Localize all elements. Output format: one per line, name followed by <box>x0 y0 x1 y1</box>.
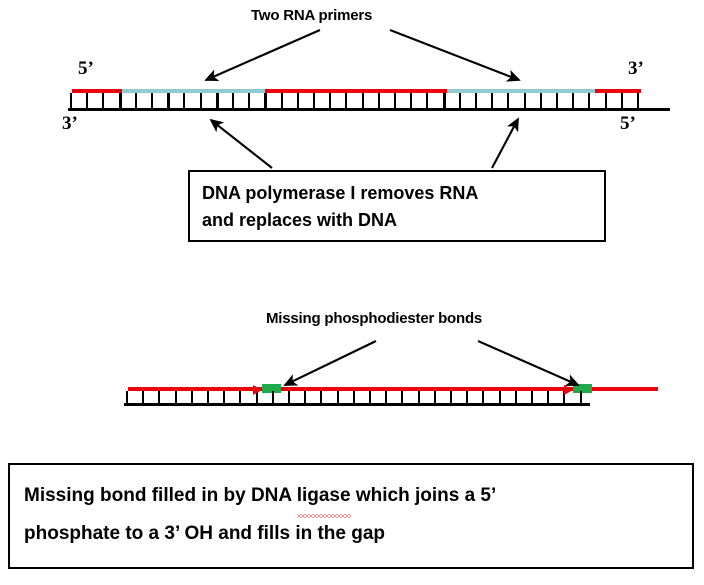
strand1-label-3prime-top: 3’ <box>628 58 644 80</box>
base-tick <box>410 93 412 109</box>
base-tick <box>200 93 202 109</box>
base-tick <box>482 391 484 404</box>
dna-polymerase-callout-box: DNA polymerase I removes RNA and replace… <box>188 170 606 242</box>
arrow-polymerase-to-left <box>211 120 272 168</box>
base-tick <box>385 391 387 404</box>
junction-tick <box>443 93 446 109</box>
base-tick <box>151 93 153 109</box>
polymerase-callout-line-1: DNA polymerase I removes RNA <box>202 180 594 207</box>
ligase-line1-after: which joins a 5’ <box>351 485 497 506</box>
base-tick <box>450 391 452 404</box>
missing-bond-marker <box>573 384 592 393</box>
base-tick <box>320 391 322 404</box>
base-tick <box>426 93 428 109</box>
base-tick <box>232 93 234 109</box>
dna-segment <box>72 89 122 93</box>
junction-tick <box>119 93 122 109</box>
base-tick <box>499 391 501 404</box>
base-tick <box>572 93 574 109</box>
junction-tick <box>167 93 170 109</box>
strand1-label-5prime-bottom: 5’ <box>620 113 636 135</box>
ligase-line1-before: Missing bond filled in by DNA <box>24 485 297 506</box>
rna-primer-segment <box>122 89 265 93</box>
base-tick <box>281 93 283 109</box>
base-tick <box>531 391 533 404</box>
dna-segment <box>128 387 262 391</box>
nick-arrow-icon <box>253 385 262 395</box>
base-tick <box>491 93 493 109</box>
base-tick <box>540 93 542 109</box>
base-tick <box>515 391 517 404</box>
strand1-label-5prime-top: 5’ <box>78 58 94 80</box>
base-tick <box>605 93 607 109</box>
base-tick <box>239 391 241 404</box>
dna-segment <box>265 89 447 93</box>
ligase-misspelled-word: ligase <box>297 477 351 515</box>
base-tick <box>369 391 371 404</box>
base-tick <box>466 391 468 404</box>
dna-segment <box>595 89 641 93</box>
base-tick <box>547 391 549 404</box>
base-tick <box>378 93 380 109</box>
base-tick <box>362 93 364 109</box>
base-tick <box>102 93 104 109</box>
base-tick <box>86 93 88 109</box>
dna-strand-top <box>0 88 704 110</box>
arrow-primers-to-left <box>206 30 320 80</box>
base-tick <box>434 391 436 404</box>
base-tick <box>304 391 306 404</box>
base-tick <box>313 93 315 109</box>
strand-bottom-baseline <box>124 403 590 406</box>
base-tick <box>142 391 144 404</box>
base-tick <box>418 391 420 404</box>
base-tick <box>70 93 72 109</box>
base-tick <box>337 391 339 404</box>
base-tick <box>297 93 299 109</box>
base-tick <box>183 93 185 109</box>
junction-tick <box>216 93 219 109</box>
dna-segment <box>281 387 573 391</box>
base-tick <box>191 391 193 404</box>
base-tick <box>401 391 403 404</box>
base-tick <box>507 93 509 109</box>
base-tick <box>345 93 347 109</box>
base-tick <box>272 391 274 404</box>
base-tick <box>524 93 526 109</box>
base-tick <box>588 93 590 109</box>
arrow-bonds-to-right-nick <box>478 341 578 385</box>
arrow-primers-to-right <box>390 30 519 80</box>
ligase-callout-line-1: Missing bond filled in by DNA ligase whi… <box>24 477 682 515</box>
base-tick <box>223 391 225 404</box>
base-tick <box>353 391 355 404</box>
polymerase-callout-line-2: and replaces with DNA <box>202 207 594 234</box>
missing-phosphodiester-bonds-heading: Missing phosphodiester bonds <box>266 310 482 327</box>
base-tick <box>207 391 209 404</box>
base-tick <box>288 391 290 404</box>
nick-arrow-icon <box>564 385 573 395</box>
base-tick <box>459 93 461 109</box>
dna-ligase-callout-box: Missing bond filled in by DNA ligase whi… <box>8 463 694 569</box>
figure-canvas: Two RNA primers 5’ 3’ 3’ 5’ DNA polymera… <box>0 0 704 585</box>
base-tick <box>329 93 331 109</box>
dna-strand-bottom <box>0 385 704 407</box>
dna-segment <box>592 387 658 391</box>
base-tick <box>475 93 477 109</box>
junction-tick <box>264 93 267 109</box>
base-tick <box>135 93 137 109</box>
base-tick <box>556 93 558 109</box>
strand1-label-3prime-bottom: 3’ <box>62 113 78 135</box>
base-tick <box>637 93 639 109</box>
base-tick <box>158 391 160 404</box>
arrow-polymerase-to-right <box>492 119 518 168</box>
base-tick <box>580 391 582 404</box>
base-tick <box>248 93 250 109</box>
arrow-bonds-to-left-nick <box>285 341 376 385</box>
base-tick <box>621 93 623 109</box>
two-rna-primers-heading: Two RNA primers <box>251 7 372 24</box>
base-tick <box>126 391 128 404</box>
ligase-callout-line-2: phosphate to a 3’ OH and fills in the ga… <box>24 515 682 553</box>
base-tick <box>175 391 177 404</box>
strand-top-baseline <box>68 108 670 111</box>
base-tick <box>394 93 396 109</box>
